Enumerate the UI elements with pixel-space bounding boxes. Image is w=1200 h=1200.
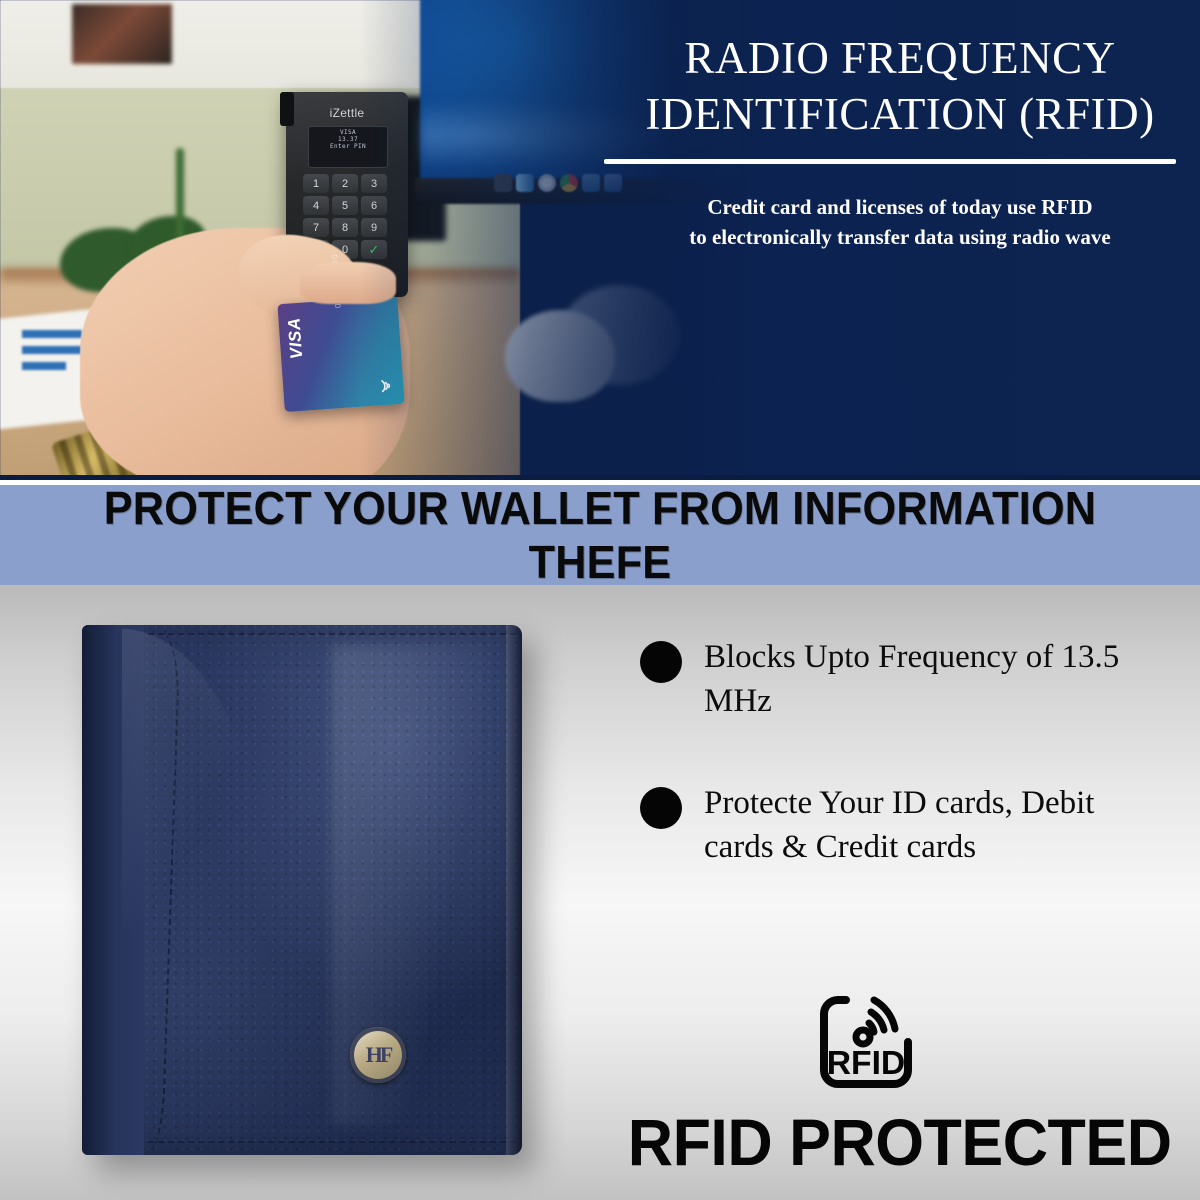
wallet-top-stitching: [148, 633, 516, 635]
svg-text:RFID: RFID: [827, 1045, 906, 1082]
infographic-page: iZettle VISA 13.37 Enter PIN 1 2 3 4 5 6…: [0, 0, 1200, 1200]
hero-section: iZettle VISA 13.37 Enter PIN 1 2 3 4 5 6…: [0, 0, 1200, 480]
page-title-line1: RADIO FREQUENCY: [600, 30, 1200, 86]
feature-text: Blocks Upto Frequency of 13.5 MHz: [704, 635, 1170, 723]
brand-emblem-text: HF: [366, 1042, 391, 1068]
page-title-line2: IDENTIFICATION (RFID): [600, 86, 1200, 142]
list-item: Protecte Your ID cards, Debit cards & Cr…: [640, 781, 1170, 869]
hero-bottom-border: [0, 475, 1200, 480]
rfid-badge-icon: RFID: [816, 992, 930, 1092]
header-text-block: RADIO FREQUENCY IDENTIFICATION (RFID) Cr…: [600, 0, 1200, 480]
wallet-right-edge: [506, 625, 522, 1155]
wallet-product-image: HF: [82, 625, 522, 1155]
list-item: Blocks Upto Frequency of 13.5 MHz: [640, 635, 1170, 723]
banner-headline: PROTECT YOUR WALLET FROM INFORMATION THE…: [36, 481, 1164, 589]
headline-banner: PROTECT YOUR WALLET FROM INFORMATION THE…: [0, 485, 1200, 585]
page-subtitle-line1: Credit card and licenses of today use RF…: [600, 192, 1200, 222]
rfid-protected-caption: RFID PROTECTED: [60, 1104, 1200, 1180]
page-subtitle: Credit card and licenses of today use RF…: [600, 192, 1200, 252]
feature-text: Protecte Your ID cards, Debit cards & Cr…: [704, 781, 1170, 869]
brand-emblem: HF: [350, 1027, 406, 1083]
page-subtitle-line2: to electronically transfer data using ra…: [600, 222, 1200, 252]
feature-list: Blocks Upto Frequency of 13.5 MHz Protec…: [640, 635, 1170, 927]
bullet-icon: [640, 787, 682, 829]
bullet-icon: [640, 641, 682, 683]
page-title: RADIO FREQUENCY IDENTIFICATION (RFID): [600, 30, 1200, 142]
title-divider: [604, 159, 1176, 164]
